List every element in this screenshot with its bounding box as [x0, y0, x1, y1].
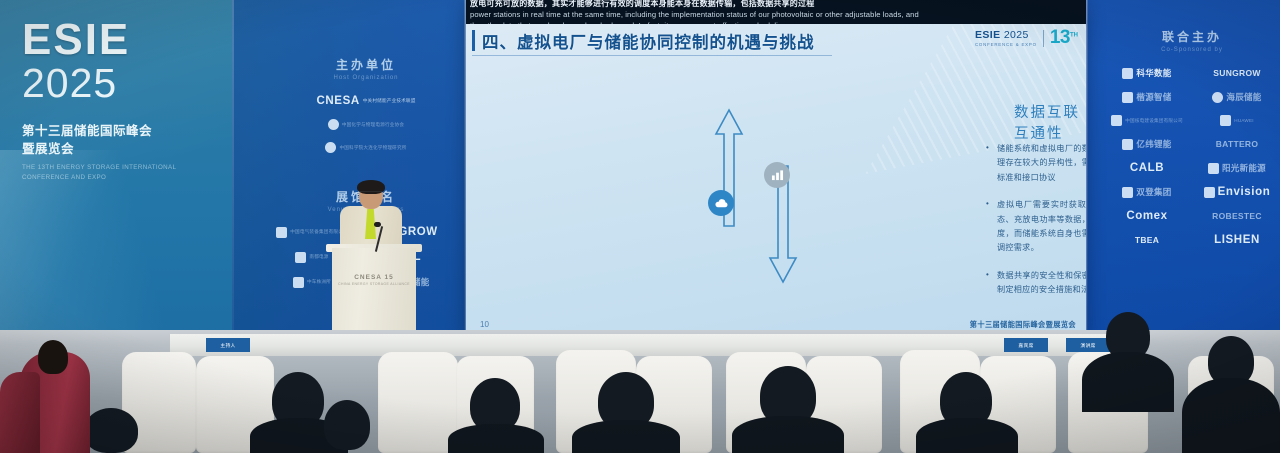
sponsor-logo: BATTERO — [1216, 139, 1259, 149]
sponsor-mark-icon — [276, 227, 287, 238]
conference-photo: ESIE 2025 第十三届储能国际峰会 暨展览会 THE 13TH ENERG… — [0, 0, 1280, 453]
sponsor-logo: SUNGROW — [1213, 68, 1260, 78]
esie-brand-block: ESIE 2025 第十三届储能国际峰会 暨展览会 THE 13TH ENERG… — [22, 18, 222, 182]
caption-line-cn: 放电可充可放的数据，其实才能够进行有效的调度本身能本身在数据传输，包括数据共享的… — [470, 0, 1082, 9]
podium: CNESA 15 CHINA ENERGY STORAGE ALLIANCE — [332, 248, 416, 334]
venue-title-cn-line1: 第十三届储能国际峰会 — [22, 122, 222, 140]
audience-shoulders — [1182, 378, 1280, 453]
sponsor-logo: LISHEN — [1214, 234, 1260, 246]
venue-title-en-line1: THE 13TH ENERGY STORAGE INTERNATIONAL — [22, 163, 222, 172]
sponsor-logo-text: ROBESTEC — [1212, 211, 1262, 221]
projection-screen: 放电可充可放的数据，其实才能够进行有效的调度本身能本身在数据传输，包括数据共享的… — [466, 0, 1086, 337]
slide-center-graphic — [690, 104, 840, 294]
sponsor-logo-text: 阳光新能源 — [1222, 162, 1266, 174]
sponsor-logo-sub: 中国化学与物理电源行业协会 — [342, 122, 404, 128]
table-name-card: 演讲席 — [1066, 338, 1110, 352]
table-name-card: 嘉宾席 — [1004, 338, 1048, 352]
sponsor-logo-text: Comex — [1126, 210, 1167, 222]
sponsor-heading-cn: 联合主办 — [1104, 28, 1280, 45]
slide-page-number: 10 — [480, 320, 489, 329]
sponsor-mark-icon — [1204, 187, 1215, 198]
sponsor-mark-icon — [295, 252, 306, 263]
sponsor-logo-sub: HUAWEI — [1234, 118, 1253, 123]
sponsor-logo-text: 科华数能 — [1136, 67, 1171, 79]
sponsor-panel-co-sponsor: 联合主办 Co-Sponsored by 科华数能 SUNGROW 楷源智储 海… — [1104, 28, 1280, 246]
audience-chair — [378, 352, 458, 453]
sponsor-logo: TBEA — [1135, 235, 1159, 245]
sponsor-mark-icon — [1122, 68, 1133, 79]
cloud-icon — [708, 190, 734, 216]
caption-line-en-1: power stations in real time at the same … — [470, 9, 1082, 20]
sponsor-logo: CNESA 中关村储能产业技术联盟 — [317, 95, 416, 107]
audience-shoulders — [448, 424, 544, 453]
backdrop-seam-1 — [232, 0, 234, 332]
table-name-card: 主持人 — [206, 338, 250, 352]
slide-badge-divider — [1043, 30, 1044, 47]
sponsor-logo-text: 亿纬锂能 — [1136, 138, 1171, 150]
slide-column-heading-left: 数据互联互通性 — [1014, 101, 1086, 143]
presentation-slide: 四、虚拟电厂与储能协同控制的机遇与挑战 ESIE 2025 CONFERENCE… — [466, 24, 1086, 337]
audience-shoulders — [1082, 352, 1174, 412]
backdrop-seam-3 — [1086, 0, 1088, 332]
slide-title-accent-bar — [472, 30, 475, 51]
foreground-attendee-arm — [0, 372, 40, 453]
sponsor-logo-text: Envision — [1218, 186, 1271, 198]
sponsor-logo-text: BATTERO — [1216, 139, 1259, 149]
sponsor-logo-text: CALB — [1130, 162, 1164, 174]
sponsor-heading-en: Host Organization — [268, 75, 464, 81]
slide-badge-edition: 13 — [1050, 27, 1070, 48]
slide-esie-badge: ESIE 2025 CONFERENCE & EXPO 13TH — [975, 29, 1078, 48]
sponsor-logo: 楷源智储 — [1122, 91, 1171, 103]
slide-title-band: 四、虚拟电厂与储能协同控制的机遇与挑战 ESIE 2025 CONFERENCE… — [466, 26, 1086, 56]
audience-head — [324, 400, 370, 450]
sponsor-mark-icon — [1111, 115, 1122, 126]
sponsor-logo: HUAWEI — [1220, 115, 1253, 126]
venue-title-cn-line2: 暨展览会 — [22, 140, 222, 158]
podium-logo-main: CNESA 15 — [332, 274, 416, 281]
audience-shoulders — [572, 420, 680, 453]
sponsor-logo-sub: 中国科学院大连化学物理研究所 — [339, 145, 406, 151]
slide-bullet: 虚拟电厂需要实时获取储能系统的运行状态、充放电功率等数据，才能进行有效的调度，而… — [986, 198, 1086, 256]
audience-shoulders — [732, 416, 844, 453]
slide-title-underline — [472, 55, 832, 56]
speaker-at-podium: CNESA 15 CHINA ENERGY STORAGE ALLIANCE — [318, 182, 430, 332]
sponsor-mark-icon — [1122, 139, 1133, 150]
sponsor-mark-icon — [293, 277, 304, 288]
sponsor-logo: 海辰储能 — [1212, 91, 1261, 103]
sponsor-mark-icon — [328, 119, 339, 130]
front-table-row — [170, 334, 1140, 356]
slide-title: 四、虚拟电厂与储能协同控制的机遇与挑战 — [482, 29, 815, 53]
slide-bullet: 储能系统和虚拟电厂的数据采集、传输和管理存在较大的异构性，需要建立统一的数据标准… — [986, 142, 1086, 185]
sponsor-logo-text: SUNGROW — [1213, 68, 1260, 78]
sponsor-heading-en: Co-Sponsored by — [1104, 47, 1280, 53]
sponsor-logo: 中国科学院大连化学物理研究所 — [325, 142, 406, 153]
microphone-icon — [374, 222, 381, 227]
sponsor-logo: CALB — [1130, 162, 1164, 174]
foreground-attendee-head — [38, 340, 68, 374]
sponsor-logo-text: TBEA — [1135, 235, 1159, 245]
sponsor-logo: 中国化学与物理电源行业协会 — [328, 119, 404, 130]
sponsor-heading-cn: 主办单位 — [268, 56, 464, 73]
slide-badge-sub: CONFERENCE & EXPO — [975, 42, 1037, 47]
podium-logo: CNESA 15 CHINA ENERGY STORAGE ALLIANCE — [332, 274, 416, 286]
slide-bullet: 数据共享的安全性和保密性至关重要，需要制定相应的安全措施和法规，防止数据泄露 — [986, 269, 1086, 298]
sponsor-mark-icon — [1122, 187, 1133, 198]
sponsor-logo: 科华数能 — [1122, 67, 1171, 79]
glasses-icon — [360, 191, 382, 196]
sponsor-logo-text: 海辰储能 — [1226, 91, 1261, 103]
slide-badge-edition-suffix: TH — [1070, 33, 1078, 39]
sponsor-logo-text: LISHEN — [1214, 234, 1260, 246]
slide-bullets-left: 储能系统和虚拟电厂的数据采集、传输和管理存在较大的异构性，需要建立统一的数据标准… — [986, 142, 1086, 311]
esie-logo-year: 2025 — [22, 63, 222, 104]
esie-logo-text: ESIE — [22, 18, 222, 61]
sponsor-mark-icon — [1208, 163, 1219, 174]
huawei-logo-icon — [1220, 115, 1231, 126]
sponsor-logo: 中国核电建设集团有限公司 — [1111, 115, 1183, 126]
audience-shoulders — [916, 418, 1018, 453]
venue-title-en-line2: CONFERENCE AND EXPO — [22, 173, 222, 182]
sponsor-mark-icon — [1212, 92, 1223, 103]
bar-chart-icon — [764, 162, 790, 188]
sponsor-panel-host: 主办单位 Host Organization CNESA 中关村储能产业技术联盟… — [268, 56, 464, 153]
sponsor-logo-sub: 中国核电建设集团有限公司 — [1125, 118, 1183, 124]
sponsor-logo-text: 双登集团 — [1136, 186, 1171, 198]
slide-footer-text: 第十三届储能国际峰会暨展览会 — [970, 320, 1076, 330]
sponsor-logo: 阳光新能源 — [1208, 162, 1266, 174]
sponsor-logo-sub: 中关村储能产业技术联盟 — [363, 98, 416, 104]
sponsor-logo: Comex — [1126, 210, 1167, 222]
sponsor-logo-text: CNESA — [317, 95, 360, 107]
cloud-glyph — [714, 198, 729, 209]
sponsor-mark-icon — [325, 142, 336, 153]
bar-chart-glyph — [771, 169, 784, 181]
sponsor-logo: Envision — [1204, 186, 1271, 198]
caption-overlay-bar: 放电可充可放的数据，其实才能够进行有效的调度本身能本身在数据传输，包括数据共享的… — [466, 0, 1086, 24]
sponsor-logo: 双登集团 — [1122, 186, 1171, 198]
sponsor-logo: 亿纬锂能 — [1122, 138, 1171, 150]
podium-logo-sub: CHINA ENERGY STORAGE ALLIANCE — [332, 282, 416, 286]
audience-head — [84, 408, 138, 453]
slide-badge-esie: ESIE 2025 — [975, 30, 1037, 41]
sponsor-mark-icon — [1122, 92, 1133, 103]
sponsor-logo-text: 楷源智储 — [1136, 91, 1171, 103]
sponsor-logo: ROBESTEC — [1212, 211, 1262, 221]
